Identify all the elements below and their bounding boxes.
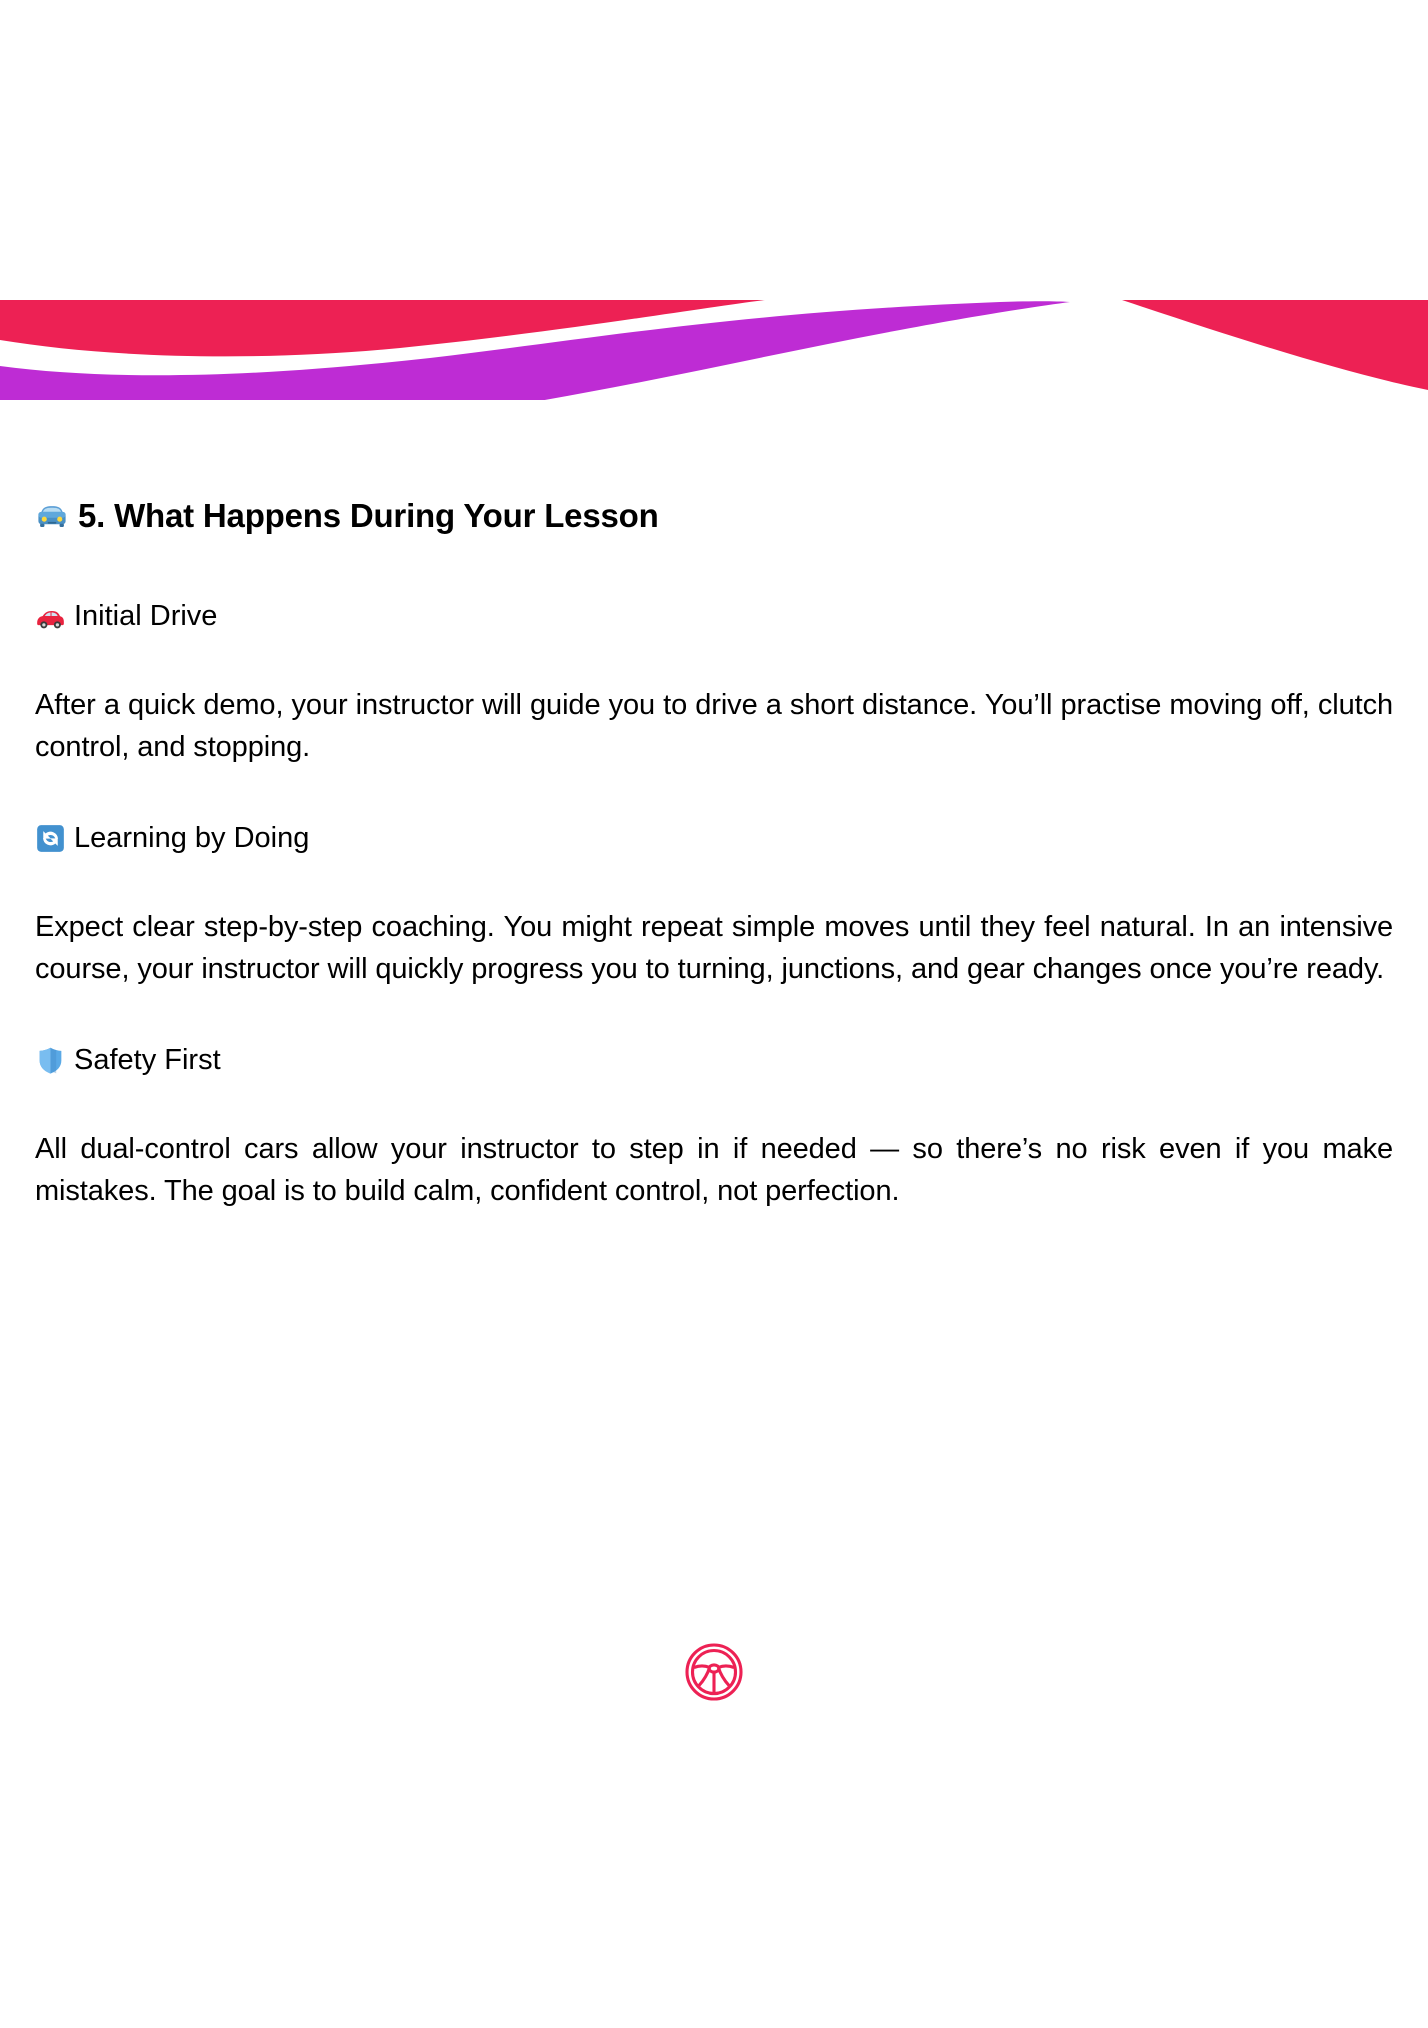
section-heading-initial-drive: Initial Drive — [35, 598, 1393, 636]
oncoming-automobile-icon — [35, 499, 69, 533]
shield-icon — [35, 1045, 66, 1076]
section-heading-learning-by-doing: Learning by Doing — [35, 820, 1393, 858]
section-heading-text: Learning by Doing — [74, 820, 309, 858]
section-heading-safety-first: Safety First — [35, 1042, 1393, 1080]
refresh-cycle-icon — [35, 823, 66, 854]
section-body-safety-first: All dual-control cars allow your instruc… — [35, 1128, 1393, 1212]
document-page: 5. What Happens During Your Lesson Initi… — [0, 0, 1428, 2028]
footer-logo-container — [0, 1640, 1428, 1704]
content-column: 5. What Happens During Your Lesson Initi… — [35, 495, 1393, 1212]
section-heading-text: Safety First — [74, 1042, 221, 1080]
red-car-icon — [35, 602, 66, 633]
page-title: 5. What Happens During Your Lesson — [35, 495, 1393, 536]
section-body-learning-by-doing: Expect clear step-by-step coaching. You … — [35, 906, 1393, 990]
page-title-text: 5. What Happens During Your Lesson — [78, 495, 659, 536]
steering-wheel-logo — [682, 1640, 746, 1704]
section-heading-text: Initial Drive — [74, 598, 217, 636]
section-body-initial-drive: After a quick demo, your instructor will… — [35, 684, 1393, 768]
